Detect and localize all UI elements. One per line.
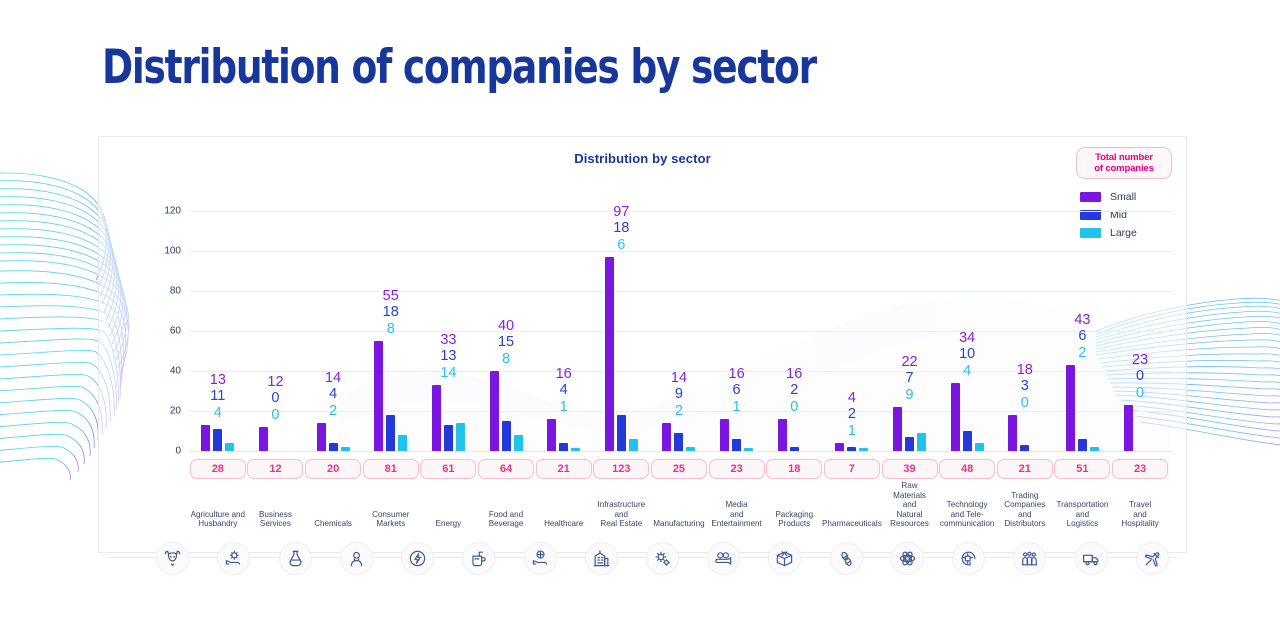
bars [765, 211, 823, 451]
sector-label: TravelandHospitality [1103, 500, 1177, 529]
icon-cell [203, 536, 264, 580]
legend-label-small: Small [1110, 191, 1136, 203]
bar-small[interactable] [778, 419, 787, 451]
bars [881, 211, 939, 451]
bar-group: 436251TransportationandLogistics [1054, 211, 1112, 587]
y-axis-tick-0: 0 [143, 446, 181, 457]
bar-group: 4217Pharmaceuticals [823, 211, 881, 587]
bars [996, 211, 1054, 451]
icon-cell [938, 536, 999, 580]
bars [304, 211, 362, 451]
bar-mid[interactable] [732, 439, 741, 451]
atom-icon[interactable] [891, 542, 924, 575]
icon-cell [754, 536, 815, 580]
sector-total-badge: 61 [420, 459, 476, 479]
bar-small[interactable] [1124, 405, 1133, 451]
icon-row [142, 536, 1183, 580]
chip-head-icon[interactable] [952, 542, 985, 575]
sector-total-badge: 23 [1112, 459, 1168, 479]
sector-total-badge: 7 [824, 459, 880, 479]
bar-group: 4015864Food andBeverage [477, 211, 535, 587]
y-axis-tick-60: 60 [143, 326, 181, 337]
bar-large[interactable] [1090, 447, 1099, 451]
flask-icon[interactable] [279, 542, 312, 575]
bar-mid[interactable] [386, 415, 395, 451]
bar-group: 149225Manufacturing [650, 211, 708, 587]
bars [247, 211, 305, 451]
bar-group: 230023TravelandHospitality [1111, 211, 1169, 587]
bar-small[interactable] [201, 425, 210, 451]
bar-group: 227939RawMaterialsandNaturalResources [881, 211, 939, 587]
total-number-of-companies-badge: Total number of companies [1076, 147, 1172, 179]
sector-total-badge: 18 [766, 459, 822, 479]
sector-total-badge: 25 [651, 459, 707, 479]
icon-cell [693, 536, 754, 580]
bar-group: 120012BusinessServices [247, 211, 305, 587]
icon-cell [448, 536, 509, 580]
bar-large[interactable] [514, 435, 523, 451]
bar-mid[interactable] [1078, 439, 1087, 451]
bar-small[interactable] [547, 419, 556, 451]
sector-icon-strip [98, 536, 1187, 580]
icon-cell [509, 536, 570, 580]
sector-total-badge: 39 [882, 459, 938, 479]
bars [938, 211, 996, 451]
bar-small[interactable] [1066, 365, 1075, 451]
people-group-icon[interactable] [1013, 542, 1046, 575]
bar-small[interactable] [317, 423, 326, 451]
bars [1111, 211, 1169, 451]
total-badge-line-1: Total number [1079, 152, 1169, 163]
bar-mid[interactable] [617, 415, 626, 451]
bar-group: 97186123InfrastructureandReal Estate [592, 211, 650, 587]
plot-area: 020406080100120 1311428Agriculture andHu… [143, 211, 1173, 587]
bar-large[interactable] [571, 448, 580, 451]
icon-cell [632, 536, 693, 580]
icon-cell [877, 536, 938, 580]
icon-cell [1122, 536, 1183, 580]
bar-mid[interactable] [847, 447, 856, 451]
y-axis-tick-40: 40 [143, 366, 181, 377]
icon-cell [142, 536, 203, 580]
bar-mid[interactable] [674, 433, 683, 451]
pills-icon[interactable] [830, 542, 863, 575]
bar-small[interactable] [374, 341, 383, 451]
icon-cell [1061, 536, 1122, 580]
bars [708, 211, 766, 451]
package-box-icon[interactable] [768, 542, 801, 575]
bars [1054, 211, 1112, 451]
bars [477, 211, 535, 451]
bar-group: 162018PackagingProducts [765, 211, 823, 587]
consumer-person-icon[interactable] [340, 542, 373, 575]
icon-cell [387, 536, 448, 580]
bar-mid[interactable] [444, 425, 453, 451]
sector-total-badge: 48 [939, 459, 995, 479]
icon-cell [816, 536, 877, 580]
bars [592, 211, 650, 451]
bar-mid[interactable] [1020, 445, 1029, 451]
bar-small[interactable] [605, 257, 614, 451]
bar-small[interactable] [893, 407, 902, 451]
y-axis-tick-80: 80 [143, 286, 181, 297]
bar-mid[interactable] [963, 431, 972, 451]
bar-large[interactable] [686, 447, 695, 451]
bar-groups: 1311428Agriculture andHusbandry120012Bus… [189, 211, 1169, 587]
legend-item-small[interactable]: Small [1080, 188, 1172, 206]
bars [535, 211, 593, 451]
bar-large[interactable] [225, 443, 234, 451]
bar-large[interactable] [341, 447, 350, 451]
bar-mid[interactable] [790, 447, 799, 451]
bar-mid[interactable] [559, 443, 568, 451]
y-axis-tick-100: 100 [143, 246, 181, 257]
bar-group: 164121Healthcare [535, 211, 593, 587]
page-title: Distribution of companies by sector [102, 40, 816, 95]
bar-large[interactable] [975, 443, 984, 451]
bar-mid[interactable] [213, 429, 222, 451]
bar-mid[interactable] [905, 437, 914, 451]
bar-group: 3410448Technologyand Tele-communication [938, 211, 996, 587]
y-axis-tick-20: 20 [143, 406, 181, 417]
sector-total-badge: 23 [709, 459, 765, 479]
sector-total-badge: 81 [363, 459, 419, 479]
bar-group: 166123MediaandEntertainment [708, 211, 766, 587]
bar-group: 5518881ConsumerMarkets [362, 211, 420, 587]
bars [420, 211, 478, 451]
icon-cell [999, 536, 1060, 580]
bar-small[interactable] [951, 383, 960, 451]
sector-total-badge: 123 [593, 459, 649, 479]
building-icon[interactable] [585, 542, 618, 575]
truck-icon[interactable] [1075, 542, 1108, 575]
bar-large[interactable] [744, 448, 753, 451]
bar-large[interactable] [917, 433, 926, 451]
bull-head-icon[interactable] [156, 542, 189, 575]
bars [362, 211, 420, 451]
total-badge-line-2: of companies [1079, 163, 1169, 174]
sector-total-badge: 20 [305, 459, 361, 479]
airplane-icon[interactable] [1136, 542, 1169, 575]
bar-large[interactable] [859, 448, 868, 451]
bar-mid[interactable] [329, 443, 338, 451]
bar-group: 183021TradingCompaniesandDistributors [996, 211, 1054, 587]
bar-small[interactable] [1008, 415, 1017, 451]
bar-small[interactable] [432, 385, 441, 451]
gear-in-hand-icon[interactable] [217, 542, 250, 575]
bar-small[interactable] [835, 443, 844, 451]
bars [650, 211, 708, 451]
medical-cross-hand-icon[interactable] [524, 542, 557, 575]
bar-small[interactable] [259, 427, 268, 451]
lightning-bolt-icon[interactable] [401, 542, 434, 575]
icon-cell [264, 536, 325, 580]
bars [189, 211, 247, 451]
y-axis-tick-120: 120 [143, 206, 181, 217]
sector-total-badge: 28 [190, 459, 246, 479]
sector-total-badge: 12 [247, 459, 303, 479]
icon-cell [571, 536, 632, 580]
sector-total-badge: 21 [997, 459, 1053, 479]
bar-small[interactable] [720, 419, 729, 451]
bar-small[interactable] [662, 423, 671, 451]
chart-card: Distribution by sector Total number of c… [98, 136, 1187, 553]
legend-swatch-small [1080, 192, 1101, 202]
bar-large[interactable] [629, 439, 638, 451]
sector-total-badge: 51 [1054, 459, 1110, 479]
bar-mid[interactable] [502, 421, 511, 451]
chart-title: Distribution by sector [99, 151, 1186, 166]
bar-group: 144220Chemicals [304, 211, 362, 587]
bar-group: 33131461Energy [420, 211, 478, 587]
bar-group: 1311428Agriculture andHusbandry [189, 211, 247, 587]
y-axis: 020406080100120 [143, 211, 189, 451]
icon-cell [326, 536, 387, 580]
bar-small[interactable] [490, 371, 499, 451]
film-camera-icon[interactable] [707, 542, 740, 575]
gears-icon[interactable] [646, 542, 679, 575]
bar-large[interactable] [398, 435, 407, 451]
bar-large[interactable] [456, 423, 465, 451]
beverage-cup-icon[interactable] [462, 542, 495, 575]
sector-total-badge: 64 [478, 459, 534, 479]
bars [823, 211, 881, 451]
sector-total-badge: 21 [536, 459, 592, 479]
